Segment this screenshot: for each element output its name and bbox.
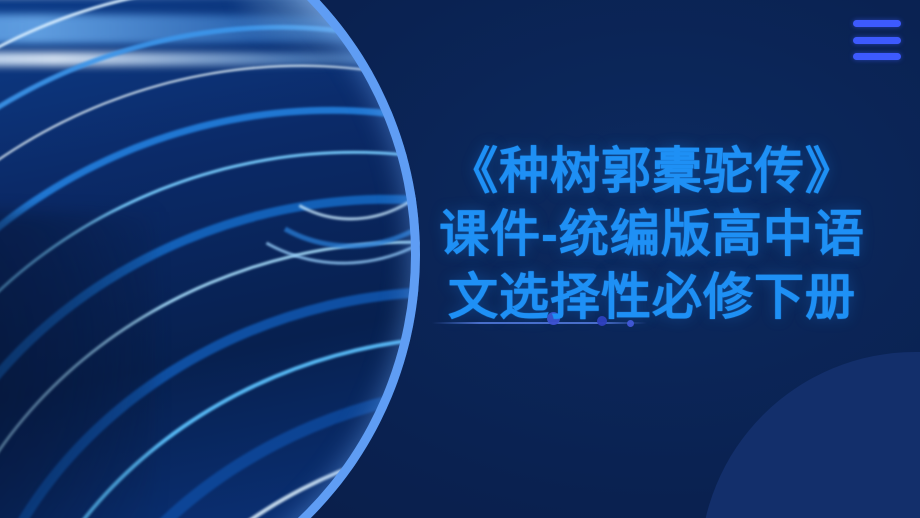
- hamburger-menu-icon-bar-2: [853, 37, 901, 44]
- title-line-2: 课件-统编版高中语: [408, 203, 896, 266]
- presentation-slide: 《种树郭橐驼传》 课件-统编版高中语 文选择性必修下册: [0, 0, 920, 518]
- artwork-shadow-wedge: [0, 212, 155, 518]
- hamburger-menu-icon-bar-3: [853, 53, 901, 60]
- hamburger-menu-icon-bar-1: [853, 20, 901, 27]
- title-line-3: 文选择性必修下册: [408, 266, 896, 329]
- title-line-1: 《种树郭橐驼传》: [408, 140, 896, 203]
- abstract-artwork: [0, 0, 420, 518]
- hamburger-menu-button[interactable]: [851, 20, 903, 60]
- slide-title: 《种树郭橐驼传》 课件-统编版高中语 文选择性必修下册: [408, 140, 896, 329]
